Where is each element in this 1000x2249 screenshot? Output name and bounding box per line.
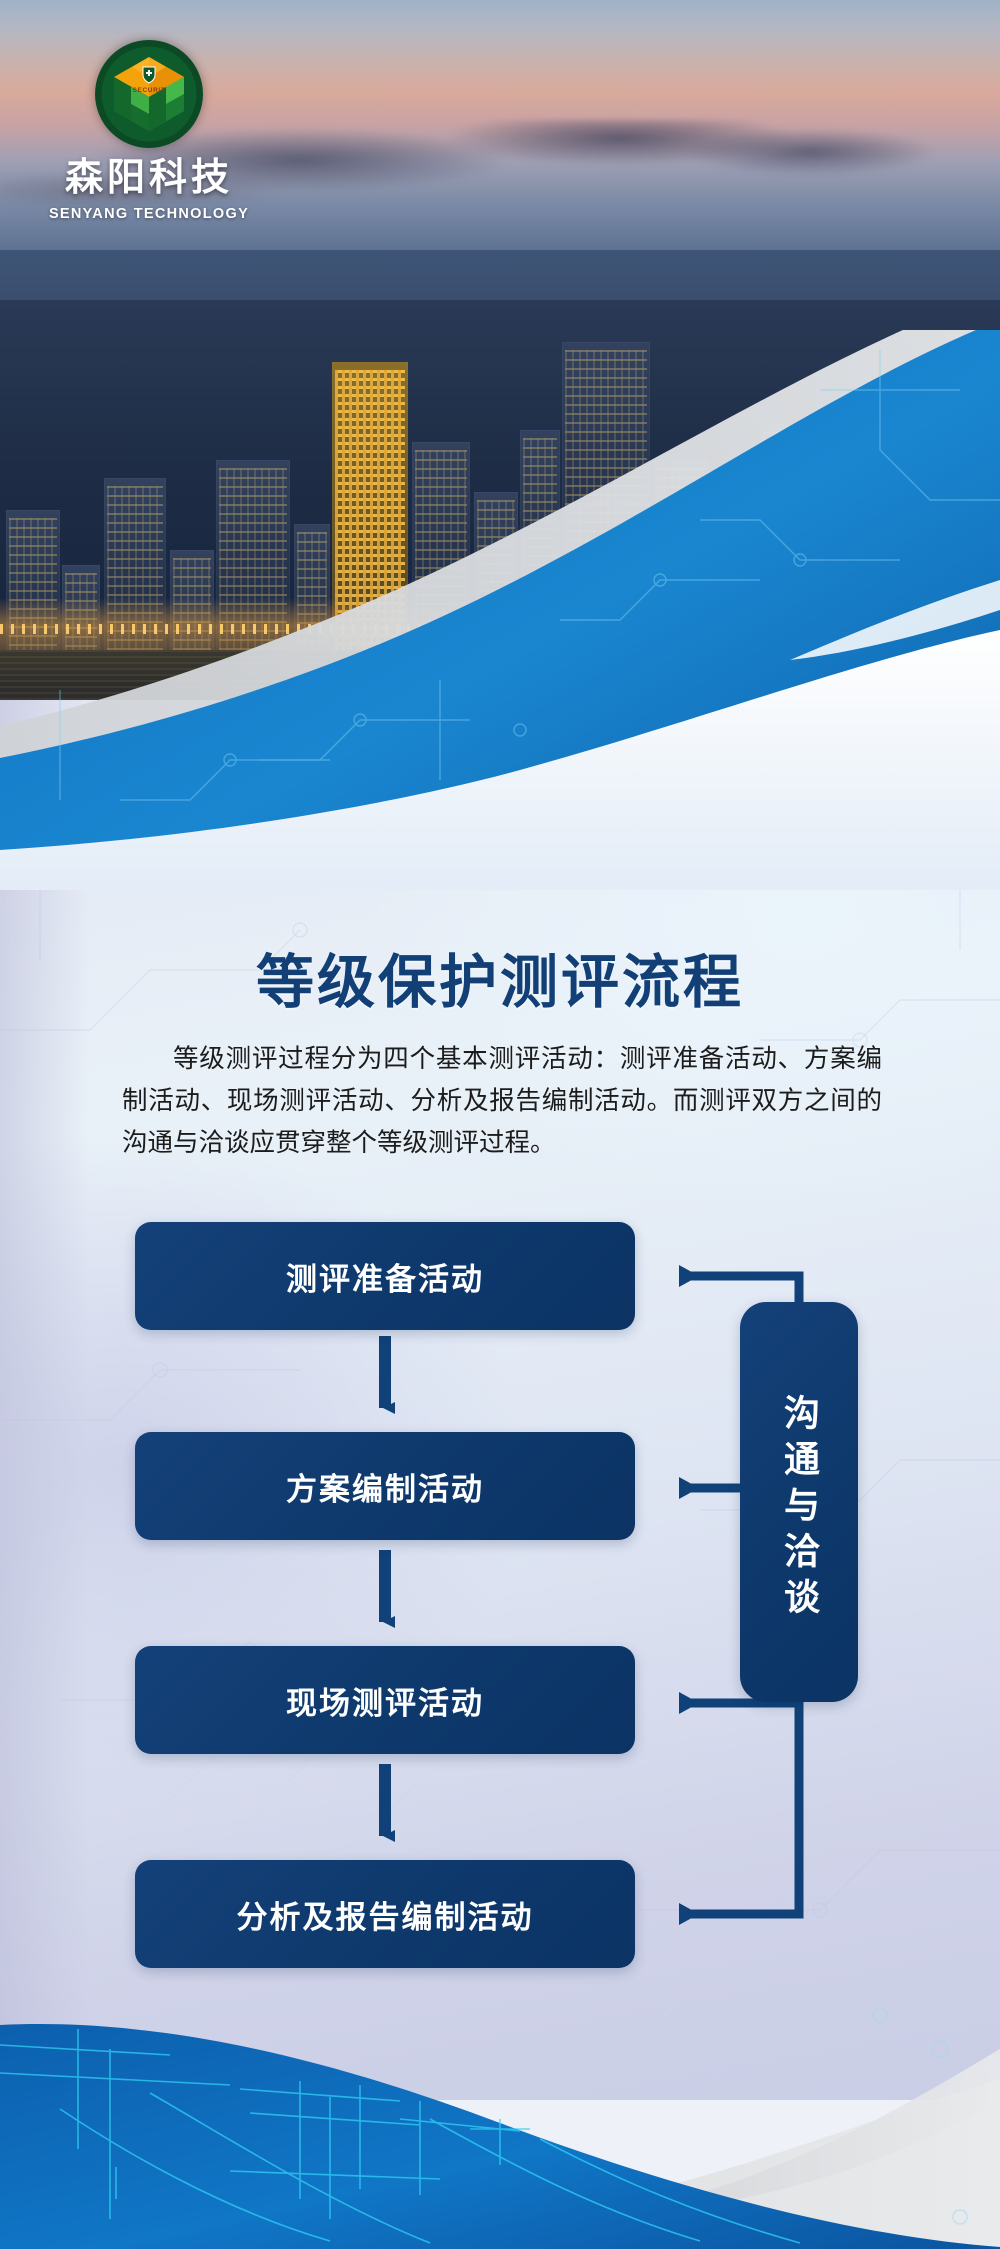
flow-step-2[interactable]: 方案编制活动 bbox=[135, 1432, 635, 1540]
page-title: 等级保护测评流程 bbox=[0, 935, 1000, 1019]
flow-step-3[interactable]: 现场测评活动 bbox=[135, 1646, 635, 1754]
content-layer: 等级保护测评流程 等级测评过程分为四个基本测评活动：测评准备活动、方案编制活动、… bbox=[0, 0, 1000, 2249]
intro-paragraph: 等级测评过程分为四个基本测评活动：测评准备活动、方案编制活动、现场测评活动、分析… bbox=[122, 1038, 882, 1164]
flow-step-4[interactable]: 分析及报告编制活动 bbox=[135, 1860, 635, 1968]
flow-side-node-communication[interactable]: 沟通与洽谈 bbox=[740, 1302, 858, 1702]
assessment-flowchart: 测评准备活动 方案编制活动 现场测评活动 分析及报告编制活动 沟通与洽谈 bbox=[0, 1210, 1000, 1970]
poster-root: SECURIT 森阳科技 SENYANG TECHNOLOGY bbox=[0, 0, 1000, 2249]
flow-step-1[interactable]: 测评准备活动 bbox=[135, 1222, 635, 1330]
